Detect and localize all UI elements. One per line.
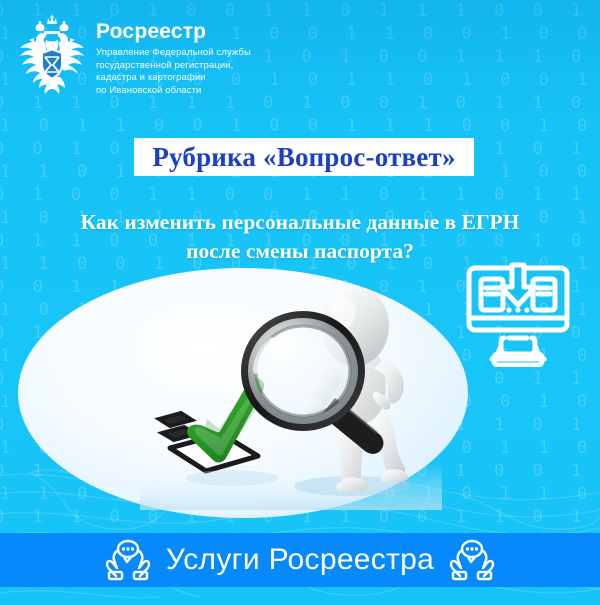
header-bar: Росреестр Управление Федеральной службы … xyxy=(0,0,600,112)
hands-speech-bubble-icon-left xyxy=(104,539,152,581)
rubric-label: Рубрика «Вопрос-ответ» xyxy=(152,142,455,173)
brand-subtitle: Управление Федеральной службы государств… xyxy=(96,47,251,97)
monitor-download-icon xyxy=(462,262,574,367)
brand-block: Росреестр Управление Федеральной службы … xyxy=(96,20,251,97)
brand-subtitle-line-1: Управление Федеральной службы xyxy=(96,47,251,60)
brand-subtitle-line-2: государственной регистрации, xyxy=(96,60,251,73)
footer-band: Услуги Росреестра xyxy=(0,533,600,587)
brand-title: Росреестр xyxy=(96,20,251,44)
illustration-figure-magnifier-checklist xyxy=(140,288,442,510)
question-text: Как изменить персональные данные в ЕГРН … xyxy=(30,208,570,266)
hands-speech-bubble-icon-right xyxy=(448,539,496,581)
brand-subtitle-line-3: кадастра и картографии xyxy=(96,72,251,85)
brand-subtitle-line-4: по Ивановской области xyxy=(96,85,251,98)
footer-label: Услуги Росреестра xyxy=(166,543,434,577)
double-headed-eagle-emblem-icon xyxy=(12,14,92,98)
question-line-1: Как изменить персональные данные в ЕГРН xyxy=(30,208,570,237)
poster-root: 0 1 1 0 1 0 0 1 1 0 1 1 1 0 0 1 0 1 1 01… xyxy=(0,0,600,605)
rubric-banner: Рубрика «Вопрос-ответ» xyxy=(134,138,474,176)
